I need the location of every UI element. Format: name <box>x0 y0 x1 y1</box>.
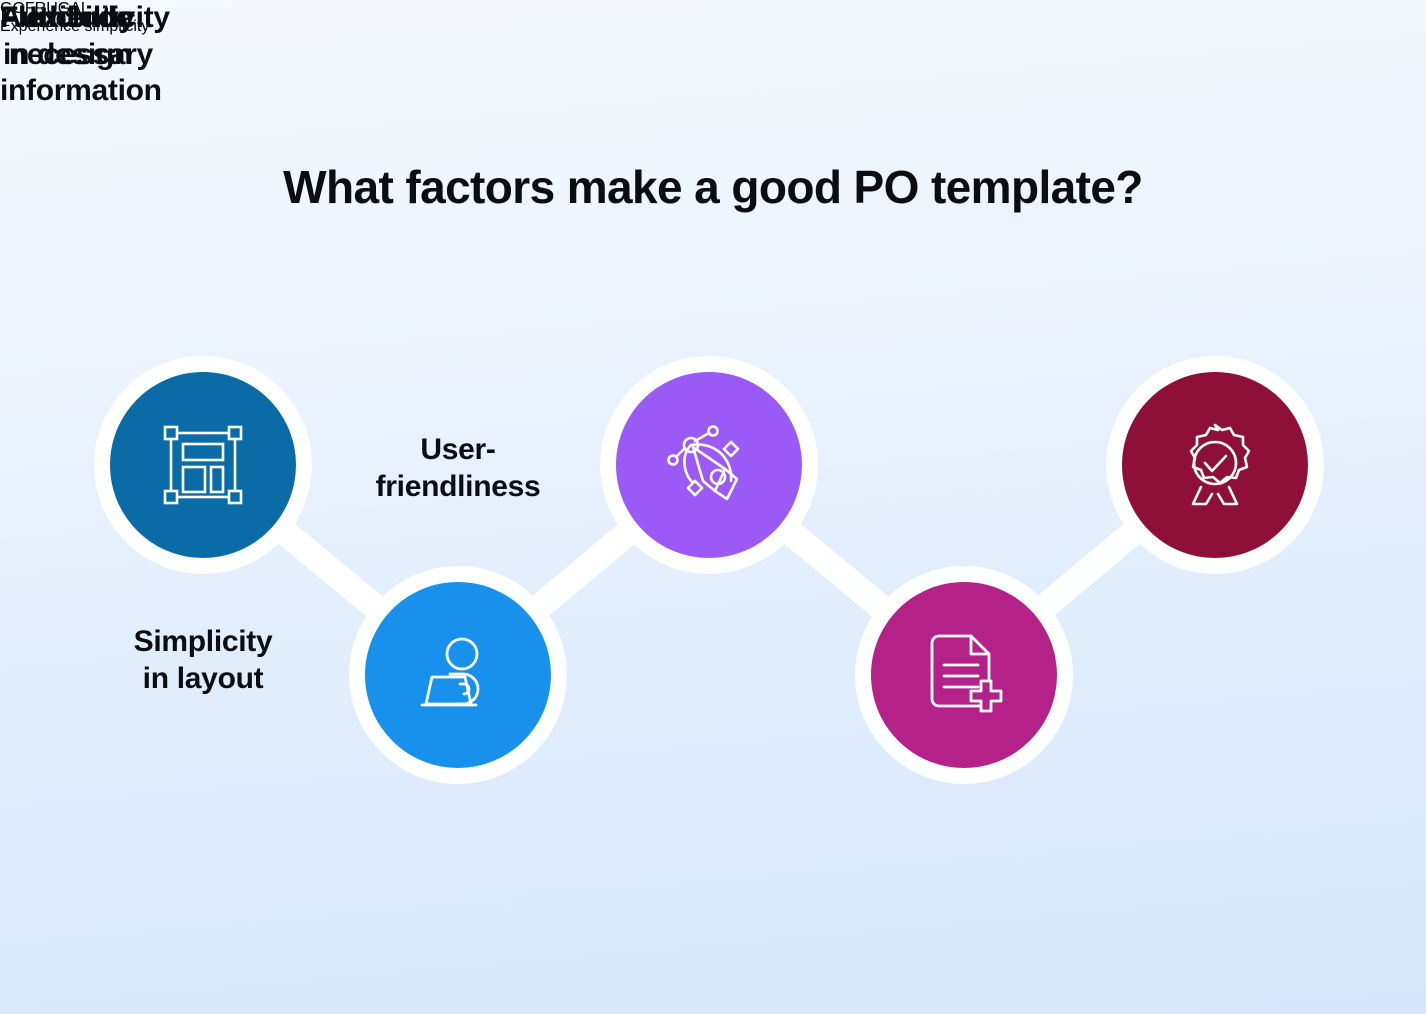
layout-wireframe-icon <box>160 422 246 508</box>
step-label-line2: friendliness <box>330 469 586 506</box>
brand-logo: GOFRUGAL Experience simplicity <box>0 0 1426 36</box>
document-plus-icon <box>918 629 1010 721</box>
step-circle-user-friendliness[interactable] <box>365 582 551 768</box>
step-label-simplicity: Simplicity in layout <box>75 624 331 697</box>
person-at-laptop-icon <box>412 629 504 721</box>
step-label-line2: necessary <box>0 37 162 74</box>
brand-name: GOFRUGAL <box>0 0 1426 18</box>
step-label-line3: information <box>0 73 162 110</box>
step-circle-authenticity[interactable] <box>1122 372 1308 558</box>
step-label-authenticity: Authenticity <box>0 0 170 37</box>
step-label-user-friendliness: User- friendliness <box>330 432 586 505</box>
pen-tool-icon <box>663 419 755 511</box>
step-label-line2: in layout <box>75 661 331 698</box>
step-label-line1: Simplicity <box>75 624 331 661</box>
step-label-line1: Authenticity <box>0 0 170 37</box>
page-title: What factors make a good PO template? <box>0 160 1426 214</box>
step-circle-flexibility[interactable] <box>616 372 802 558</box>
step-circle-necessary-information[interactable] <box>871 582 1057 768</box>
step-circle-simplicity[interactable] <box>110 372 296 558</box>
brand-tagline: Experience simplicity <box>0 18 1426 36</box>
infographic-canvas: What factors make a good PO template? <box>0 0 1426 1014</box>
verified-badge-icon <box>1169 419 1261 511</box>
step-label-line1: User- <box>330 432 586 469</box>
